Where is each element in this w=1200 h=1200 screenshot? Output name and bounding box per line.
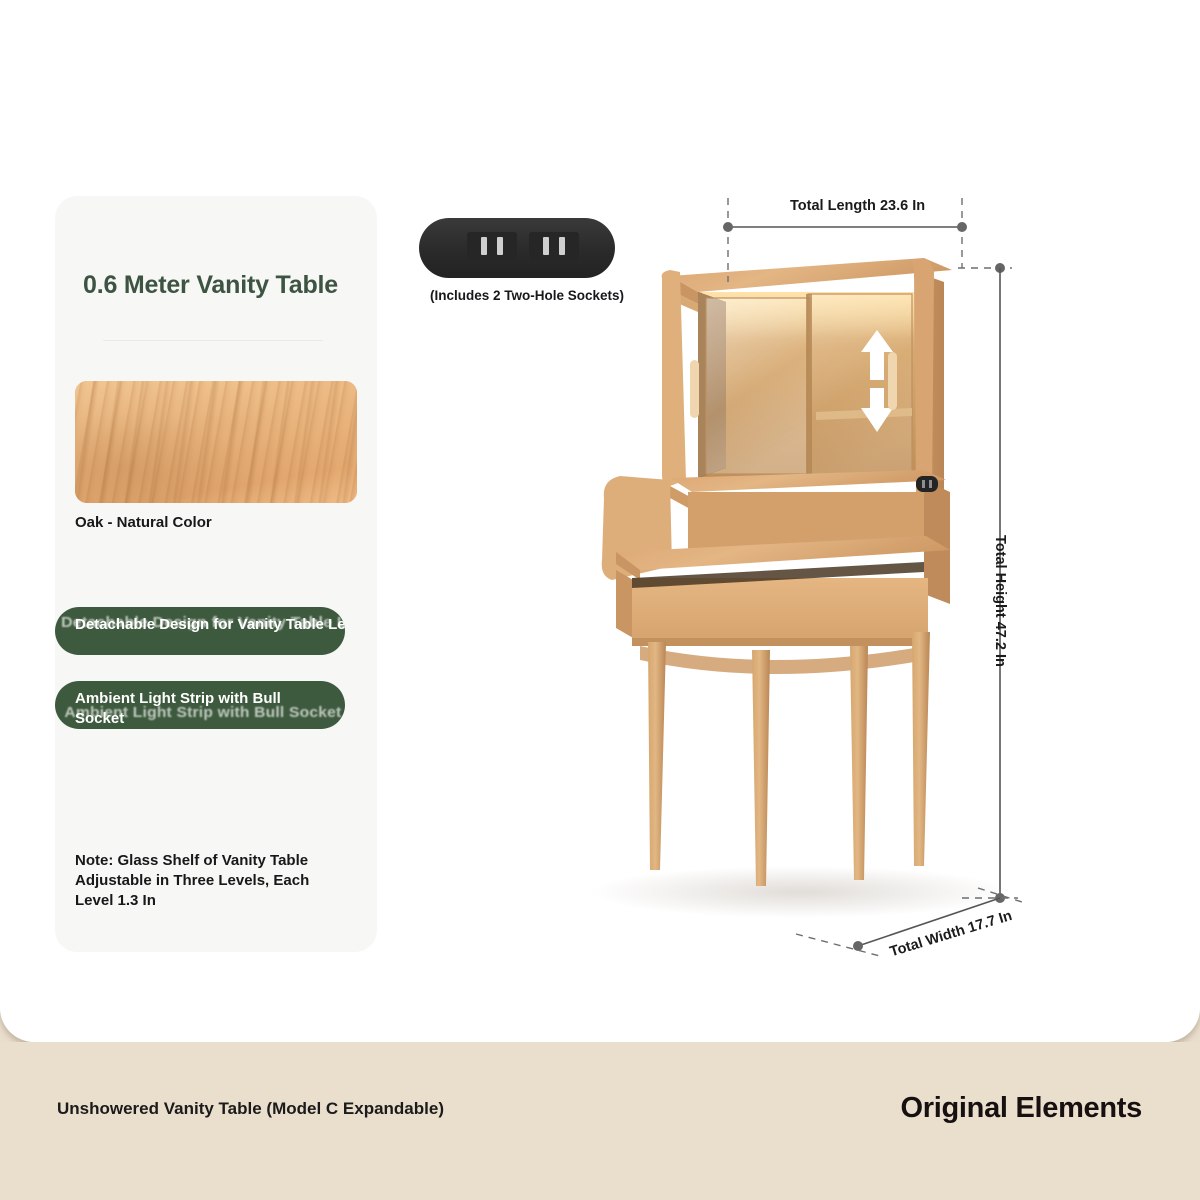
dimension-overlay <box>0 0 1200 1042</box>
footer-band: Unshowered Vanity Table (Model C Expanda… <box>0 1042 1200 1200</box>
dimension-label-length: Total Length 23.6 In <box>790 198 925 214</box>
spec-sheet-page: 0.6 Meter Vanity Table Oak - Natural Col… <box>0 0 1200 1200</box>
brand-name: Original Elements <box>901 1092 1142 1125</box>
content-panel: 0.6 Meter Vanity Table Oak - Natural Col… <box>0 0 1200 1042</box>
width-guide-left <box>796 934 880 956</box>
dimension-label-height: Total Height 47.2 In <box>992 535 1008 667</box>
footer-model-name: Unshowered Vanity Table (Model C Expanda… <box>57 1098 477 1121</box>
